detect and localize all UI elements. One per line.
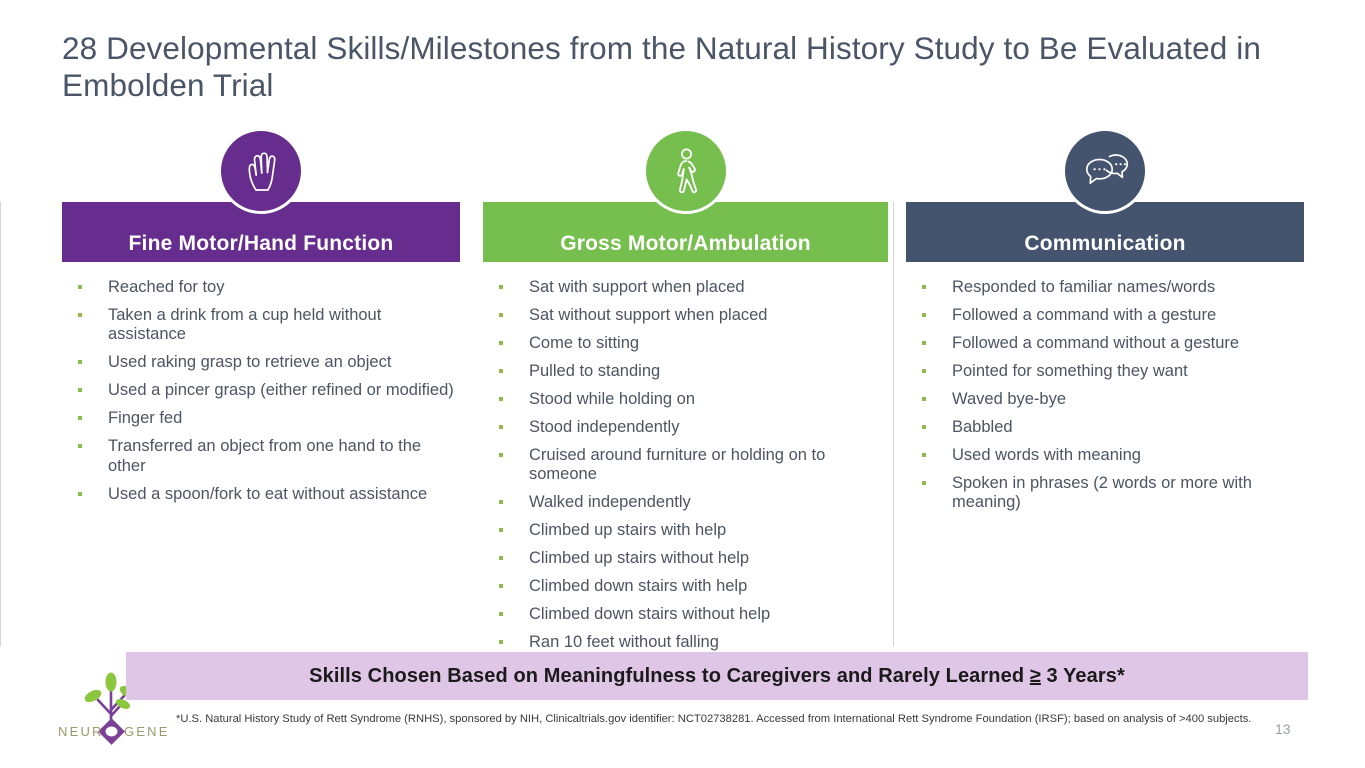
list-item: Used a pincer grasp (either refined or m…: [70, 381, 460, 400]
list-item-label: Ran 10 feet without falling: [529, 633, 719, 651]
list-item: Followed a command without a gesture: [914, 334, 1304, 353]
bullet-marker: [922, 453, 926, 457]
list-item: Taken a drink from a cup held without as…: [70, 306, 460, 345]
logo-wordmark-right: GENE: [124, 724, 170, 739]
bullet-marker: [78, 492, 82, 496]
logo-wordmark-left: NEUR: [58, 724, 104, 739]
column-header-label: Communication: [1024, 233, 1185, 254]
list-item: Stood independently: [491, 418, 888, 437]
list-item: Followed a command with a gesture: [914, 306, 1304, 325]
walking-person-icon: [643, 128, 729, 214]
list-item: Come to sitting: [491, 334, 888, 353]
list-item: Responded to familiar names/words: [914, 278, 1304, 297]
list-item-label: Followed a command without a gesture: [952, 334, 1239, 352]
bullet-marker: [499, 556, 503, 560]
bullet-marker: [922, 313, 926, 317]
column-header-label: Fine Motor/Hand Function: [129, 233, 394, 254]
list-item-label: Spoken in phrases (2 words or more with …: [952, 474, 1252, 511]
list-item: Used a spoon/fork to eat without assista…: [70, 485, 460, 504]
list-item: Climbed up stairs with help: [491, 521, 888, 540]
list-item: Climbed down stairs without help: [491, 605, 888, 624]
list-item-label: Sat without support when placed: [529, 306, 768, 324]
bullet-marker: [499, 285, 503, 289]
page-number: 13: [1275, 721, 1291, 737]
bullet-marker: [499, 500, 503, 504]
bullet-list-gross-motor: Sat with support when placed Sat without…: [491, 278, 888, 661]
bullet-marker: [499, 453, 503, 457]
bullet-marker: [499, 528, 503, 532]
list-item: Used raking grasp to retrieve an object: [70, 353, 460, 372]
banner-text: Skills Chosen Based on Meaningfulness to…: [309, 665, 1125, 688]
list-item-label: Followed a command with a gesture: [952, 306, 1216, 324]
bullet-list-fine-motor: Reached for toy Taken a drink from a cup…: [70, 278, 460, 513]
bullet-marker: [78, 285, 82, 289]
list-item-label: Cruised around furniture or holding on t…: [529, 446, 825, 483]
list-item: Ran 10 feet without falling: [491, 633, 888, 652]
list-item: Stood while holding on: [491, 390, 888, 409]
column-fine-motor: Fine Motor/Hand Function Reached for toy…: [62, 128, 460, 653]
column-divider-2: [893, 202, 894, 646]
list-item-label: Walked independently: [529, 493, 691, 511]
list-item-label: Taken a drink from a cup held without as…: [108, 306, 381, 343]
bullet-marker: [499, 341, 503, 345]
banner-text-after: 3 Years*: [1041, 665, 1125, 687]
column-gross-motor: Gross Motor/Ambulation Sat with support …: [483, 128, 888, 653]
footnote: *U.S. Natural History Study of Rett Synd…: [176, 712, 1266, 726]
list-item-label: Used raking grasp to retrieve an object: [108, 353, 391, 371]
column-header-label: Gross Motor/Ambulation: [560, 233, 811, 254]
greater-equal-symbol: ≥: [1030, 665, 1041, 687]
list-item: Reached for toy: [70, 278, 460, 297]
column-divider-1: [0, 202, 1, 646]
list-item-label: Climbed down stairs without help: [529, 605, 770, 623]
list-item: Waved bye-bye: [914, 390, 1304, 409]
bullet-marker: [78, 388, 82, 392]
bullet-marker: [78, 416, 82, 420]
bullet-marker: [78, 444, 82, 448]
list-item: Used words with meaning: [914, 446, 1304, 465]
bullet-marker: [922, 397, 926, 401]
bullet-list-communication: Responded to familiar names/words Follow…: [914, 278, 1304, 521]
list-item-label: Reached for toy: [108, 278, 224, 296]
list-item-label: Stood independently: [529, 418, 679, 436]
list-item: Spoken in phrases (2 words or more with …: [914, 474, 1304, 513]
list-item-label: Transferred an object from one hand to t…: [108, 437, 421, 474]
bullet-marker: [922, 369, 926, 373]
list-item-label: Climbed up stairs without help: [529, 549, 749, 567]
list-item-label: Sat with support when placed: [529, 278, 745, 296]
bullet-marker: [922, 341, 926, 345]
key-message-banner: Skills Chosen Based on Meaningfulness to…: [126, 652, 1308, 700]
banner-text-before: Skills Chosen Based on Meaningfulness to…: [309, 665, 1030, 687]
column-communication: Communication Responded to familiar name…: [906, 128, 1304, 653]
bullet-marker: [499, 313, 503, 317]
list-item-label: Pulled to standing: [529, 362, 660, 380]
speech-bubbles-icon: [1062, 128, 1148, 214]
list-item-label: Babbled: [952, 418, 1013, 436]
list-item: Climbed down stairs with help: [491, 577, 888, 596]
list-item-label: Climbed up stairs with help: [529, 521, 726, 539]
page-title: 28 Developmental Skills/Milestones from …: [62, 30, 1282, 104]
list-item-label: Used a spoon/fork to eat without assista…: [108, 485, 427, 503]
bullet-marker: [499, 369, 503, 373]
bullet-marker: [922, 425, 926, 429]
list-item: Babbled: [914, 418, 1304, 437]
list-item-label: Finger fed: [108, 409, 182, 427]
columns-container: Fine Motor/Hand Function Reached for toy…: [0, 128, 1365, 653]
bullet-marker: [499, 425, 503, 429]
list-item-label: Waved bye-bye: [952, 390, 1066, 408]
bullet-marker: [922, 285, 926, 289]
list-item-label: Pointed for something they want: [952, 362, 1188, 380]
list-item: Pulled to standing: [491, 362, 888, 381]
list-item-label: Climbed down stairs with help: [529, 577, 747, 595]
bullet-marker: [78, 360, 82, 364]
list-item: Walked independently: [491, 493, 888, 512]
list-item-label: Used words with meaning: [952, 446, 1141, 464]
bullet-marker: [78, 313, 82, 317]
list-item-label: Stood while holding on: [529, 390, 695, 408]
list-item: Finger fed: [70, 409, 460, 428]
list-item: Pointed for something they want: [914, 362, 1304, 381]
list-item: Cruised around furniture or holding on t…: [491, 446, 888, 485]
list-item-label: Responded to familiar names/words: [952, 278, 1215, 296]
bullet-marker: [499, 397, 503, 401]
list-item: Sat without support when placed: [491, 306, 888, 325]
bullet-marker: [499, 640, 503, 644]
bullet-marker: [499, 612, 503, 616]
list-item-label: Come to sitting: [529, 334, 639, 352]
list-item: Transferred an object from one hand to t…: [70, 437, 460, 476]
list-item: Climbed up stairs without help: [491, 549, 888, 568]
list-item-label: Used a pincer grasp (either refined or m…: [108, 381, 454, 399]
list-item: Sat with support when placed: [491, 278, 888, 297]
bullet-marker: [922, 481, 926, 485]
bullet-marker: [499, 584, 503, 588]
hands-icon: [218, 128, 304, 214]
